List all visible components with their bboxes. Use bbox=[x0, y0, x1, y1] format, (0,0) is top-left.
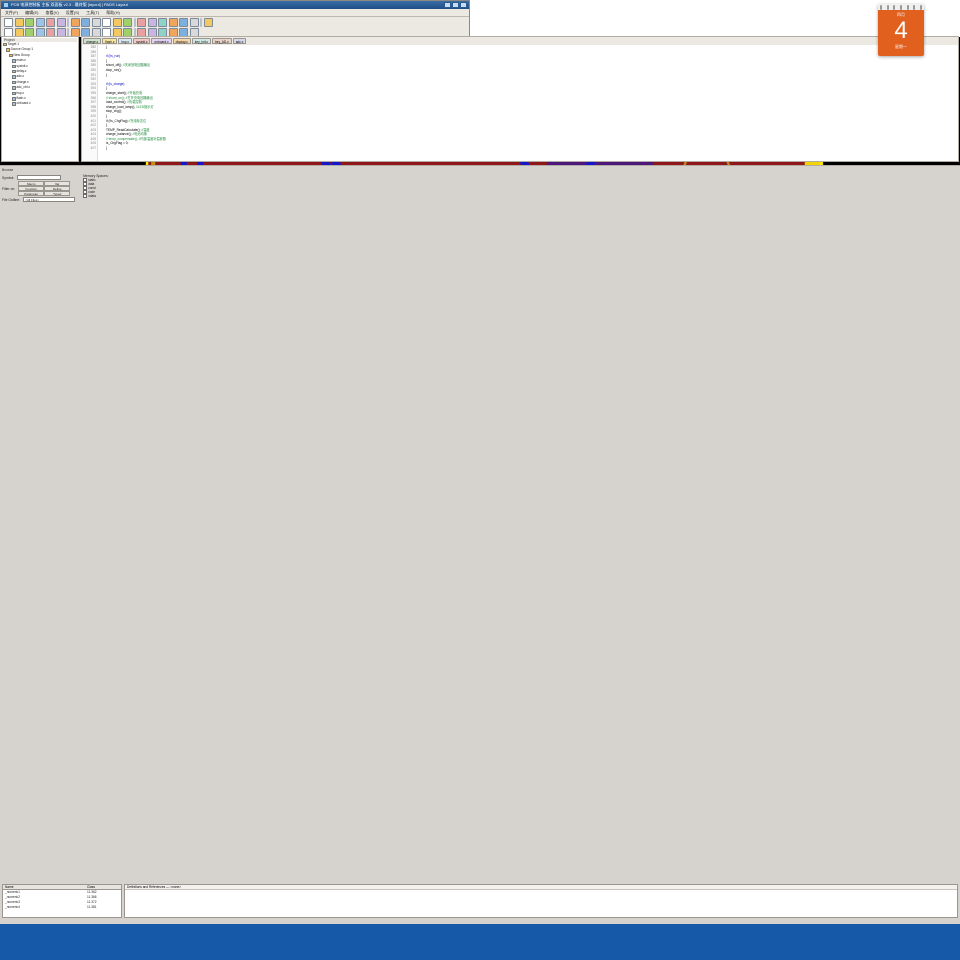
pcb-tool-15[interactable] bbox=[148, 18, 157, 27]
browse-header: Browse bbox=[2, 168, 958, 172]
pcb-toolbar-primary[interactable] bbox=[1, 17, 469, 28]
c-file-icon bbox=[12, 102, 16, 106]
pcb-tool-0[interactable] bbox=[4, 18, 13, 27]
editor-tab[interactable]: flash.c bbox=[102, 38, 117, 44]
slide-root: Full process independent research and de… bbox=[0, 0, 960, 960]
folder-icon bbox=[6, 48, 10, 52]
references-list[interactable]: Definitions and References — <none> bbox=[124, 884, 958, 918]
pcb-tool-4[interactable] bbox=[46, 18, 55, 27]
folder-icon bbox=[9, 54, 13, 58]
filter-cell[interactable]: Typed bbox=[44, 191, 70, 196]
c-file-icon bbox=[12, 59, 16, 63]
c-file-icon bbox=[12, 97, 16, 101]
symbol-label: Symbol: bbox=[2, 176, 14, 180]
pcb-tool-18[interactable] bbox=[179, 18, 188, 27]
filter-row: Filter on: MacroVarFunctionDefineParamet… bbox=[2, 181, 75, 196]
keil-project-panel[interactable]: Project Target 1Source Group 1New Groupm… bbox=[1, 36, 79, 162]
keil-editor[interactable]: charge.cflash.cbsp.csysinit.conboard.cdi… bbox=[81, 36, 959, 162]
calendar-month: 四月 bbox=[878, 12, 924, 18]
pcb-menu-item-5[interactable]: 帮助(H) bbox=[106, 10, 120, 16]
maximize-icon bbox=[452, 2, 459, 8]
editor-line-numbers: 3853863873883893903913923933943953963973… bbox=[82, 45, 98, 161]
file-outline-select[interactable]: <All Files> bbox=[23, 197, 75, 202]
pcb-tool-16[interactable] bbox=[158, 18, 167, 27]
pcb-tool-13[interactable] bbox=[134, 18, 136, 27]
pcb-tool-14[interactable] bbox=[137, 18, 146, 27]
pcb-tool-8[interactable] bbox=[81, 18, 90, 27]
editor-tab[interactable]: onboard.c bbox=[151, 38, 171, 44]
pcb-tool-17[interactable] bbox=[169, 18, 178, 27]
pcb-titlebar: PCB 电源控制板 主板 双面板 v2.3 - 最终版 [layout] | P… bbox=[1, 1, 469, 9]
filter-cell-grid[interactable]: MacroVarFunctionDefineParameterTyped bbox=[18, 181, 70, 196]
editor-tab[interactable]: sysinit.c bbox=[133, 38, 150, 44]
keil-main-area: Project Target 1Source Group 1New Groupm… bbox=[0, 35, 960, 163]
code-comment: //关闭放电回路输出 bbox=[123, 63, 150, 67]
code-comment: //负载控制 bbox=[127, 100, 142, 104]
editor-tab[interactable]: bsp.c bbox=[118, 38, 132, 44]
calendar-day: 4 bbox=[878, 18, 924, 44]
calendar-weekday: 星期一 bbox=[878, 44, 924, 50]
pcb-app-icon bbox=[3, 2, 9, 8]
memory-space-checkboxes[interactable]: staticdataconstcodexdata bbox=[83, 178, 108, 198]
code-comment: //LED指示灯 bbox=[136, 105, 154, 109]
pcb-menu-item-1[interactable]: 编辑(E) bbox=[25, 10, 38, 16]
pcb-tool-3[interactable] bbox=[36, 18, 45, 27]
desktop-calendar-widget: 四月 4 星期一 bbox=[878, 4, 924, 56]
minimize-icon bbox=[444, 2, 451, 8]
project-tree-item[interactable]: onboard.c bbox=[3, 101, 77, 106]
symbol-list-row[interactable]: _numeric411.381 bbox=[3, 905, 121, 910]
pcb-menu-item-4[interactable]: 工具(T) bbox=[86, 10, 99, 16]
pcb-tool-2[interactable] bbox=[25, 18, 34, 27]
symbol-name: _numeric4 bbox=[3, 905, 87, 910]
c-file-icon bbox=[12, 65, 16, 69]
editor-tab[interactable]: key_AD.c bbox=[212, 38, 232, 44]
code-comment: // shunt_on(); //打开充电回路输出 bbox=[106, 96, 153, 100]
code-comment: //开始充电 bbox=[128, 91, 143, 95]
pcb-tool-12[interactable] bbox=[123, 18, 132, 27]
calendar-rings bbox=[878, 4, 924, 10]
references-header: Definitions and References — <none> bbox=[125, 885, 957, 890]
checkbox-icon bbox=[83, 178, 87, 182]
pcb-title-text: PCB 电源控制板 主板 双面板 v2.3 - 最终版 [layout] | P… bbox=[11, 2, 442, 8]
filter-row: ParameterTyped bbox=[18, 191, 70, 196]
code-line[interactable]: } bbox=[106, 146, 958, 151]
pcb-tool-11[interactable] bbox=[113, 18, 122, 27]
browse-results[interactable]: Name Class _numeric111.362_numeric211.36… bbox=[2, 884, 958, 918]
close-icon bbox=[460, 2, 467, 8]
symbol-list[interactable]: Name Class _numeric111.362_numeric211.36… bbox=[2, 884, 122, 918]
pcb-tool-7[interactable] bbox=[71, 18, 80, 27]
editor-tab[interactable]: adc.c bbox=[233, 38, 247, 44]
pcb-tool-20[interactable] bbox=[200, 18, 202, 27]
pcb-menubar[interactable]: 文件(F)编辑(E)查看(V)设置(S)工具(T)帮助(H) bbox=[1, 9, 469, 17]
editor-tab[interactable]: display.c bbox=[173, 38, 191, 44]
symbol-list-rows[interactable]: _numeric111.362_numeric211.366_numeric31… bbox=[3, 890, 121, 910]
pcb-tool-21[interactable] bbox=[204, 18, 213, 27]
c-file-icon bbox=[12, 81, 16, 85]
checkbox-icon bbox=[83, 182, 87, 186]
checkbox-icon bbox=[83, 194, 87, 198]
keil-browse-panel[interactable]: Browse Symbol: Filter on: MacroVarFuncti… bbox=[0, 165, 960, 940]
editor-tab[interactable]: charge.c bbox=[83, 38, 101, 44]
line-number: 407 bbox=[82, 146, 96, 151]
file-outline-row[interactable]: File Outline: <All Files> bbox=[2, 197, 75, 202]
pcb-tool-10[interactable] bbox=[102, 18, 111, 27]
folder-icon bbox=[3, 43, 7, 47]
symbol-list-col-name: Name bbox=[3, 885, 87, 889]
code-comment: // temp_compensate(); //内部温度补偿参数 bbox=[106, 137, 166, 141]
c-file-icon bbox=[12, 75, 16, 79]
memory-space-label-item: xdata bbox=[88, 194, 96, 198]
checkbox-icon bbox=[83, 186, 87, 190]
c-file-icon bbox=[12, 86, 16, 90]
c-file-icon bbox=[12, 70, 16, 74]
code-comment: //电池均衡 bbox=[133, 132, 148, 136]
pcb-menu-item-2[interactable]: 查看(V) bbox=[45, 10, 58, 16]
symbol-class: 11.381 bbox=[87, 905, 121, 910]
checkbox-icon bbox=[83, 190, 87, 194]
footer-band bbox=[0, 924, 960, 960]
pcb-window-controls[interactable] bbox=[444, 2, 467, 8]
c-file-icon bbox=[12, 92, 16, 96]
filter-label: Filter on: bbox=[2, 187, 15, 191]
pcb-menu-item-3[interactable]: 设置(S) bbox=[66, 10, 79, 16]
pcb-tool-9[interactable] bbox=[92, 18, 101, 27]
symbol-list-col-class: Class bbox=[87, 885, 121, 889]
pcb-tool-1[interactable] bbox=[15, 18, 24, 27]
filter-cell[interactable]: Parameter bbox=[18, 191, 44, 196]
symbol-input[interactable] bbox=[17, 175, 61, 180]
keil-ide-window[interactable]: C:\Project\BMS_Controller\main.uvproj - … bbox=[0, 258, 480, 520]
editor-code-area[interactable]: 3853863873883893903913923933943953963973… bbox=[82, 45, 958, 161]
pcb-tool-5[interactable] bbox=[57, 18, 66, 27]
pcb-menu-item-0[interactable]: 文件(F) bbox=[5, 10, 18, 16]
memory-space-checkbox[interactable]: xdata bbox=[83, 194, 108, 198]
editor-tab[interactable]: key_init.c bbox=[192, 38, 211, 44]
file-outline-label: File Outline: bbox=[2, 198, 20, 202]
editor-source-text[interactable]: } if (!is_run){ shunt_off(); //关闭放电回路输出 … bbox=[98, 45, 958, 161]
pcb-tool-6[interactable] bbox=[67, 18, 69, 27]
editor-tab-bar[interactable]: charge.cflash.cbsp.csysinit.conboard.cdi… bbox=[82, 37, 958, 45]
project-tree-item-label: onboard.c bbox=[17, 101, 31, 106]
pcb-tool-19[interactable] bbox=[190, 18, 199, 27]
code-comment: //充电标志位 bbox=[129, 119, 147, 123]
project-tree[interactable]: Target 1Source Group 1New Groupmain.csys… bbox=[3, 42, 77, 107]
symbol-row[interactable]: Symbol: bbox=[2, 175, 75, 180]
